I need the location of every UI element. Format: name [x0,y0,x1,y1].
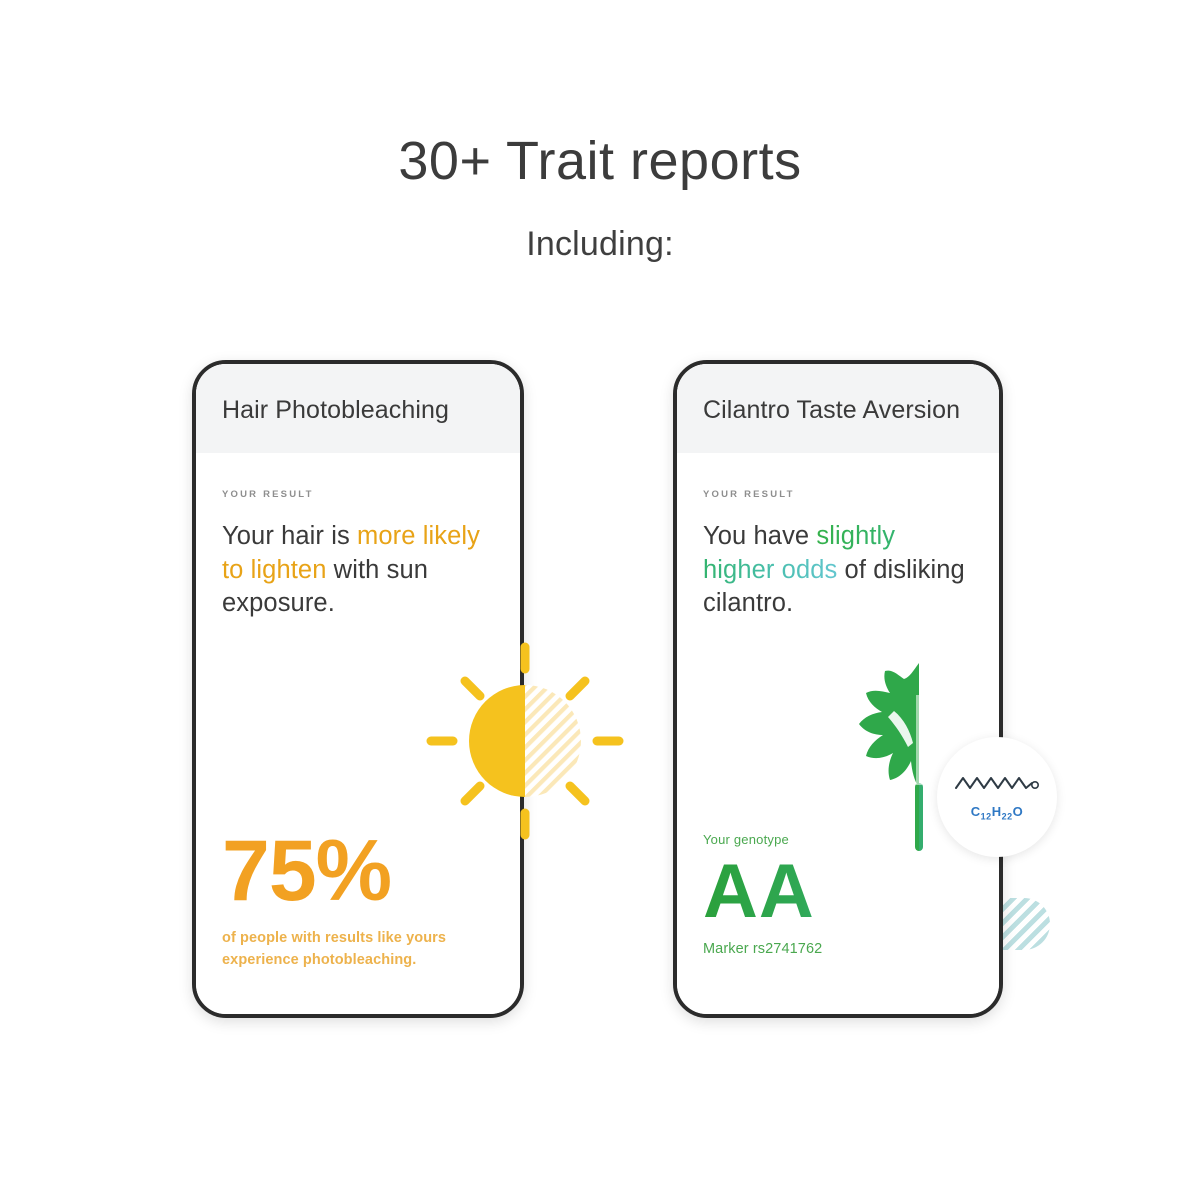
trait-header: Hair Photobleaching [196,364,520,453]
trait-header: Cilantro Taste Aversion [677,364,999,453]
trait-body: YOUR RESULT You have slightly higher odd… [677,453,999,621]
page-subtitle: Including: [0,191,1200,264]
result-kicker-label: YOUR RESULT [703,489,973,500]
result-sentence: You have slightly higher odds of disliki… [703,520,973,621]
result-sentence: Your hair is more likely to lighten with… [222,520,494,621]
result-text-part: Your hair is [222,522,357,550]
sun-icon [425,641,625,841]
page-header: 30+ Trait reports Including: [0,0,1200,264]
trait-body: YOUR RESULT Your hair is more likely to … [196,453,520,621]
trait-title: Cilantro Taste Aversion [703,394,973,427]
result-kicker-label: YOUR RESULT [222,489,494,500]
stat-percentage: 75% [222,832,492,911]
phone-volume-up-button[interactable] [673,544,677,592]
stat-block: 75% of people with results like yours ex… [222,832,492,971]
molecule-badge: C12H22O [937,737,1057,857]
molecule-formula-h: H [992,804,1002,819]
molecule-formula: C12H22O [971,804,1023,822]
genotype-marker: Marker rs2741762 [703,941,953,957]
phone-volume-down-button[interactable] [192,604,196,652]
sun-hatched-half [525,685,581,797]
sun-solid-half [469,685,525,797]
phone-power-button[interactable] [520,564,524,628]
trait-title: Hair Photobleaching [222,394,494,427]
page-title: 30+ Trait reports [0,0,1200,191]
molecule-formula-c: C [971,804,981,819]
molecule-formula-o: O [1013,804,1024,819]
phone-volume-down-button[interactable] [673,604,677,652]
phone-side-button[interactable] [192,492,196,520]
genotype-value: AA [703,853,953,931]
molecule-chain-icon [954,772,1040,798]
stat-caption: of people with results like yours experi… [222,927,492,971]
phone-power-button[interactable] [999,564,1003,628]
molecule-formula-h-sub: 22 [1002,812,1013,822]
phone-side-button[interactable] [673,492,677,520]
result-text-part: You have [703,522,816,550]
phone-volume-up-button[interactable] [192,544,196,592]
molecule-formula-c-sub: 12 [981,812,992,822]
